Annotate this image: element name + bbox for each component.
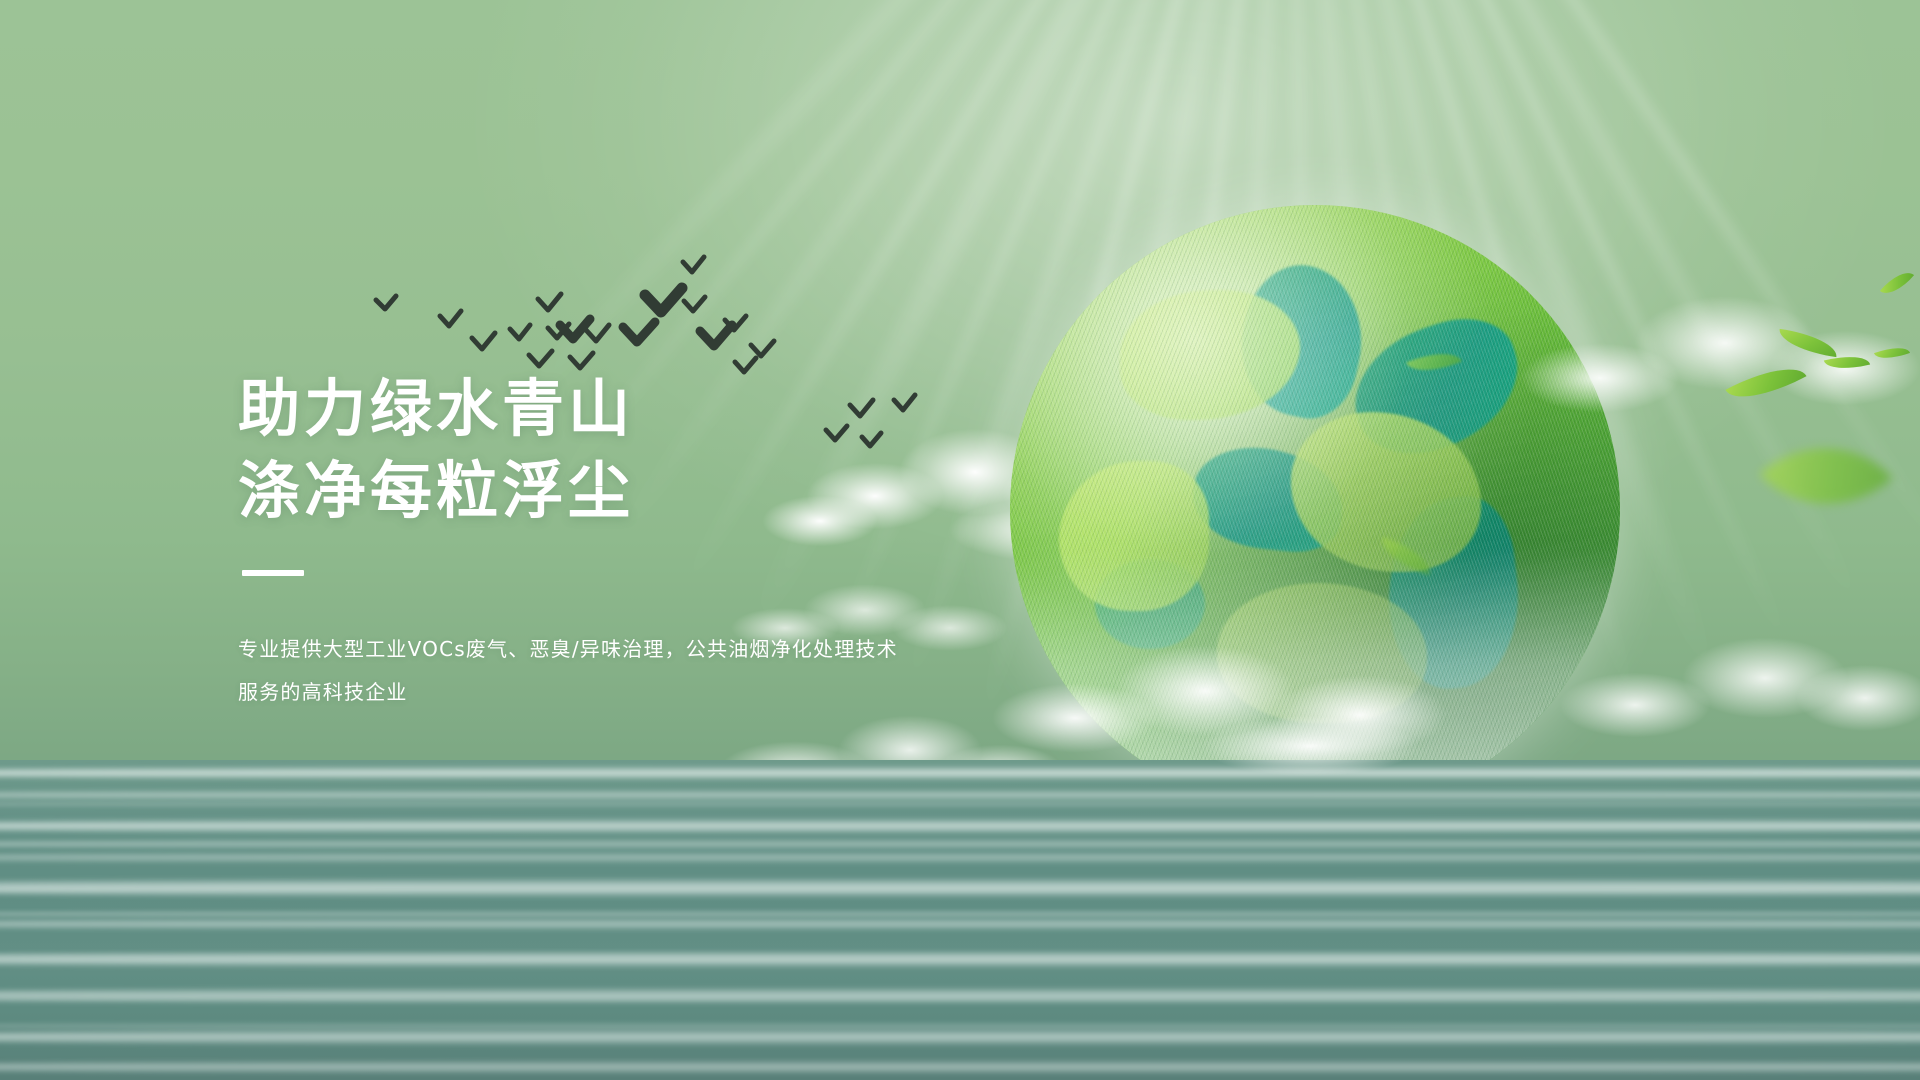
banner-description: 专业提供大型工业VOCs废气、恶臭/异味治理，公共油烟净化处理技术服务的高科技企…: [238, 628, 918, 714]
headline-line-1: 助力绿水青山: [238, 372, 634, 445]
earth-globe: [1010, 205, 1620, 815]
title-divider: [242, 570, 304, 576]
banner-copy: 助力绿水青山 涤净每粒浮尘 专业提供大型工业VOCs废气、恶臭/异味治理，公共油…: [238, 368, 958, 734]
page-title: 助力绿水青山 涤净每粒浮尘: [238, 368, 958, 532]
water-surface: [0, 760, 1920, 1080]
hero-banner: 助力绿水青山 涤净每粒浮尘 专业提供大型工业VOCs废气、恶臭/异味治理，公共油…: [0, 0, 1920, 1080]
headline-line-2: 涤净每粒浮尘: [238, 450, 958, 532]
globe-sphere: [1010, 205, 1620, 815]
globe-highlight: [1010, 205, 1620, 815]
